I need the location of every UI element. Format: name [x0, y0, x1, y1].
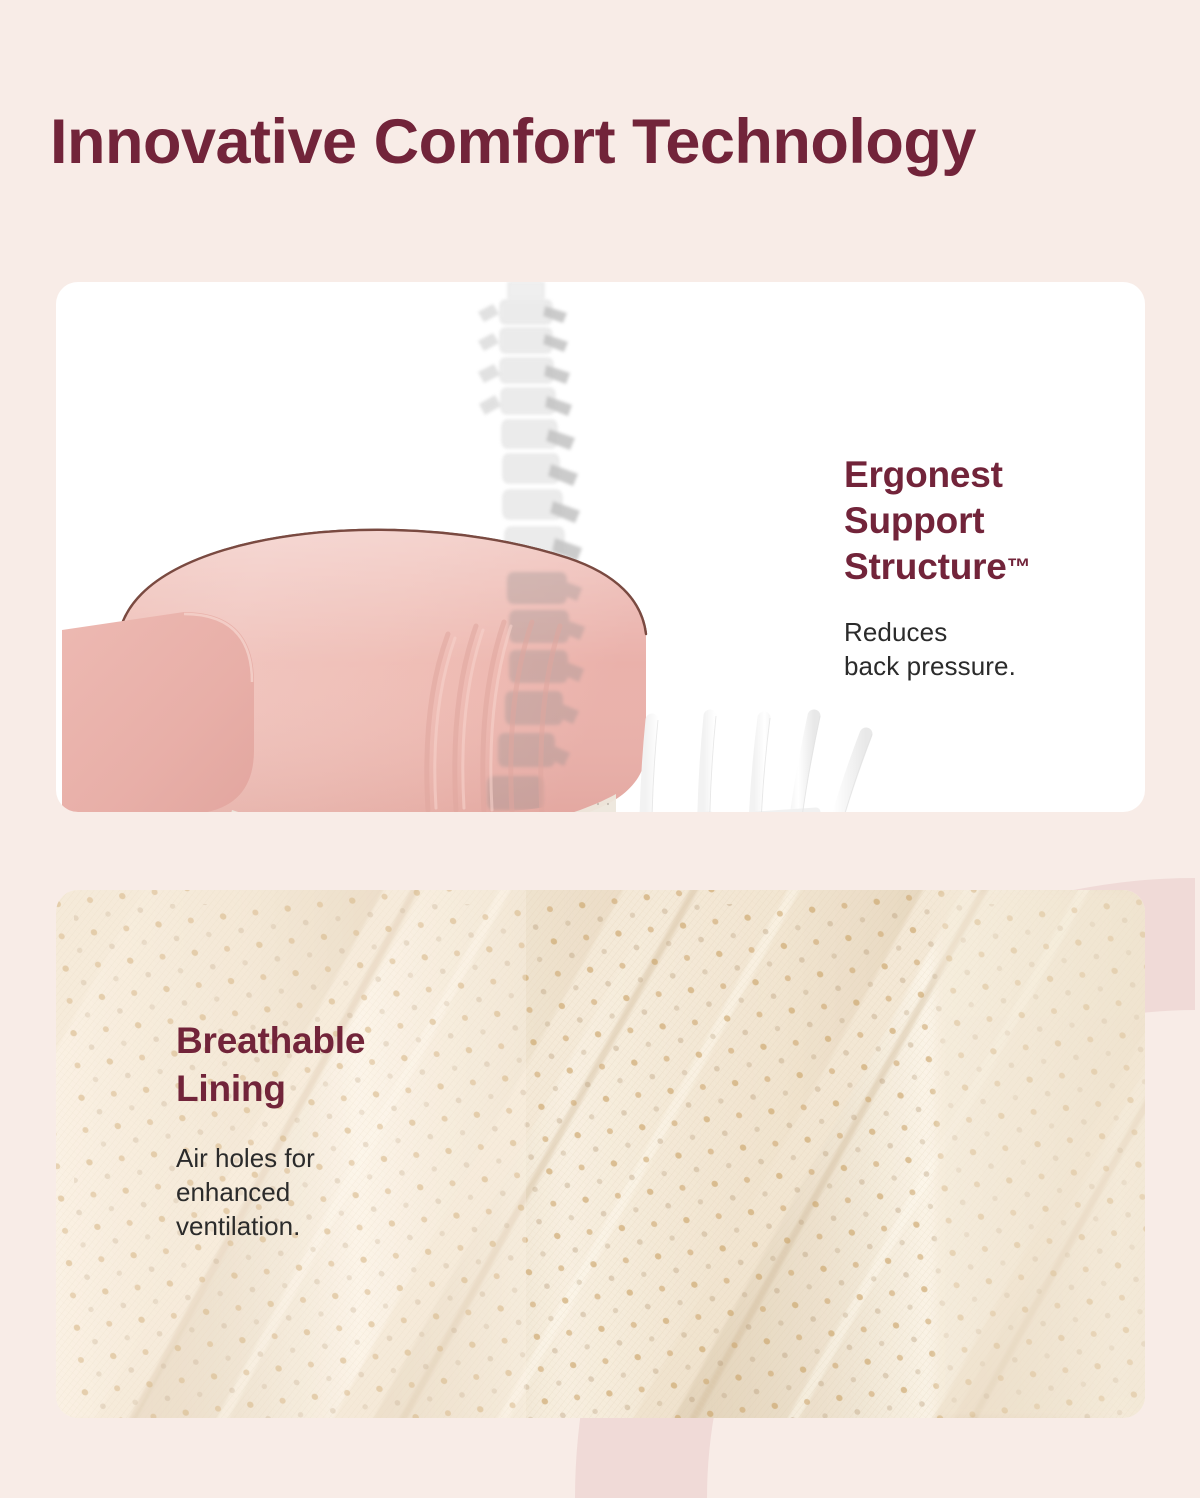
feature-description-line-2: back pressure. — [844, 649, 1124, 683]
lining-description-line-3: ventilation. — [176, 1209, 476, 1243]
page-title: Innovative Comfort Technology — [50, 106, 976, 178]
lining-title: Breathable Lining — [176, 1017, 476, 1113]
feature-text-block: Ergonest Support Structure™ Reduces back… — [844, 452, 1124, 683]
support-stay-3 — [754, 718, 780, 812]
belt-velcro-pad — [62, 612, 254, 812]
lining-description-line-2: enhanced — [176, 1175, 476, 1209]
lining-description-line-1: Air holes for — [176, 1141, 476, 1175]
feature-title-line-3-text: Structure — [844, 546, 1007, 587]
feature-card-support-structure: Ergonest Support Structure™ Reduces back… — [56, 282, 1145, 812]
belt-illustration — [56, 282, 876, 812]
feature-description-line-1: Reduces — [844, 615, 1124, 649]
support-stays-group — [646, 716, 866, 812]
feature-title: Ergonest Support Structure™ — [844, 452, 1124, 591]
lining-text-block: Breathable Lining Air holes for enhanced… — [176, 1017, 476, 1243]
feature-title-line-3: Structure™ — [844, 544, 1124, 591]
feature-description: Reduces back pressure. — [844, 615, 1124, 683]
lining-title-line-1: Breathable — [176, 1017, 476, 1065]
support-stay-2 — [704, 716, 733, 812]
feature-title-line-1: Ergonest — [844, 452, 1124, 498]
trademark-symbol: ™ — [1007, 554, 1031, 581]
lining-title-line-2: Lining — [176, 1065, 476, 1113]
spine-xray — [478, 282, 582, 561]
feature-card-breathable-lining: Breathable Lining Air holes for enhanced… — [56, 890, 1145, 1418]
feature-title-line-2: Support — [844, 498, 1124, 544]
support-stay-1 — [646, 720, 678, 812]
lining-description: Air holes for enhanced ventilation. — [176, 1141, 476, 1243]
